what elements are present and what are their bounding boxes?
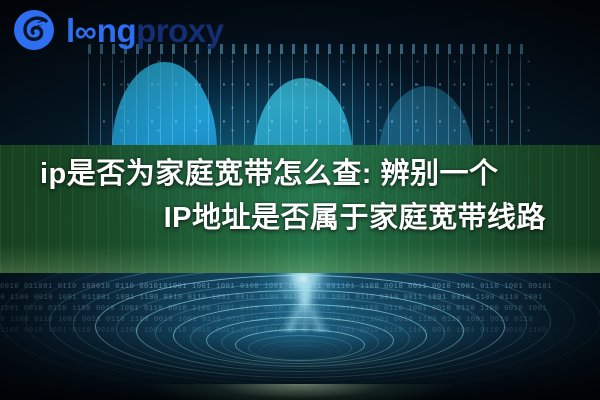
brand-logo[interactable]: l∞ng proxy xyxy=(12,8,223,52)
title-band-glow xyxy=(0,384,600,400)
page-title: ip是否为家庭宽带怎么查: 辨别一个 IP地址是否属于家庭宽带线路 xyxy=(0,152,600,240)
brand-wordmark: l∞ng proxy xyxy=(66,14,223,47)
brand-proxy: proxy xyxy=(136,14,223,47)
title-line-2: IP地址是否属于家庭宽带线路 xyxy=(22,196,578,240)
dragon-spiral-icon xyxy=(12,8,56,52)
infinity-glyph: ∞ xyxy=(75,16,97,47)
brand-loong: l∞ng xyxy=(66,14,136,47)
banner-image: 0010 011001 0110 100010 0110 0010101001 … xyxy=(0,0,600,400)
title-line-1: ip是否为家庭宽带怎么查: 辨别一个 xyxy=(22,152,578,196)
